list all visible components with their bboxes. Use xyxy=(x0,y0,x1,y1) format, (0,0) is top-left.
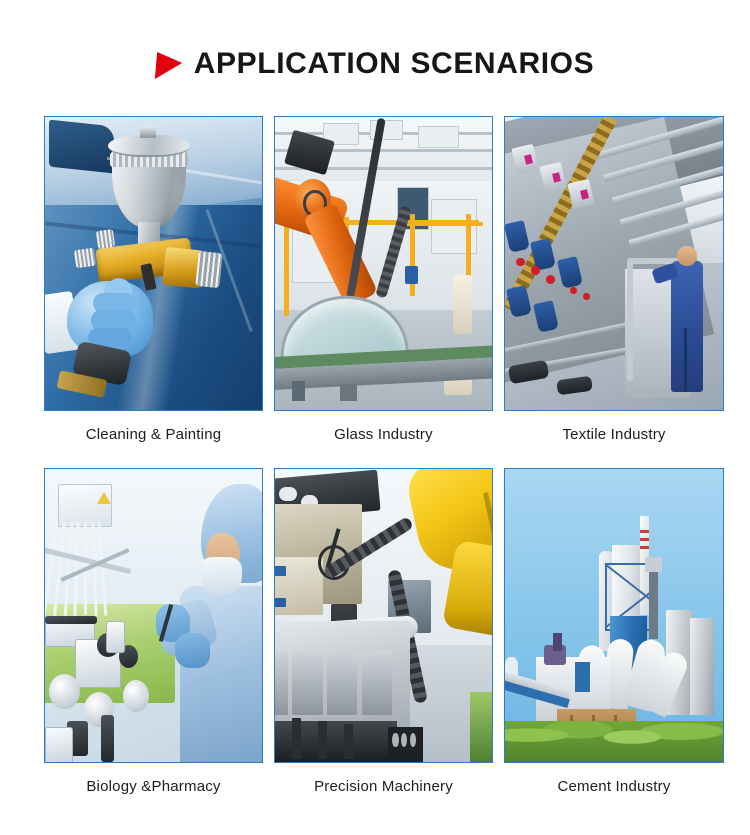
page-title: APPLICATION SCENARIOS xyxy=(194,49,594,79)
cleanroom-technician-illustration xyxy=(45,469,262,762)
cement-plant-illustration xyxy=(505,469,723,762)
scenario-image-cleaning-painting[interactable] xyxy=(44,116,263,411)
scenario-card-cement-industry[interactable]: Cement Industry xyxy=(504,468,724,809)
textile-machine-illustration xyxy=(505,117,723,410)
scenario-caption: Textile Industry xyxy=(504,411,724,457)
scenario-card-biology-pharmacy[interactable]: Biology &Pharmacy xyxy=(44,468,263,809)
scenario-caption: Cement Industry xyxy=(504,763,724,809)
scenario-caption: Glass Industry xyxy=(274,411,493,457)
scenario-image-textile-industry[interactable] xyxy=(504,116,724,411)
triangle-right-icon xyxy=(155,52,183,79)
scenario-image-glass-industry[interactable] xyxy=(274,116,493,411)
scenario-card-textile-industry[interactable]: Textile Industry xyxy=(504,116,724,457)
scenario-image-cement-industry[interactable] xyxy=(504,468,724,763)
glass-robot-line-illustration xyxy=(275,117,492,410)
scenario-image-biology-pharmacy[interactable] xyxy=(44,468,263,763)
scenario-caption: Precision Machinery xyxy=(274,763,493,809)
scenario-card-precision-machinery[interactable]: Precision Machinery xyxy=(274,468,493,809)
scenario-image-precision-machinery[interactable] xyxy=(274,468,493,763)
robot-engine-assembly-illustration xyxy=(275,469,492,762)
spray-gun-painting-illustration xyxy=(45,117,262,410)
scenario-caption: Cleaning & Painting xyxy=(44,411,263,457)
scenario-card-cleaning-painting[interactable]: Cleaning & Painting xyxy=(44,116,263,457)
scenario-card-glass-industry[interactable]: Glass Industry xyxy=(274,116,493,457)
page-heading: APPLICATION SCENARIOS xyxy=(0,40,750,88)
scenario-gallery: Cleaning & Painting xyxy=(44,116,724,809)
scenario-caption: Biology &Pharmacy xyxy=(44,763,263,809)
gallery-row: Cleaning & Painting xyxy=(44,116,724,457)
application-scenarios-page: APPLICATION SCENARIOS xyxy=(0,0,750,835)
gallery-row: Biology &Pharmacy xyxy=(44,468,724,809)
